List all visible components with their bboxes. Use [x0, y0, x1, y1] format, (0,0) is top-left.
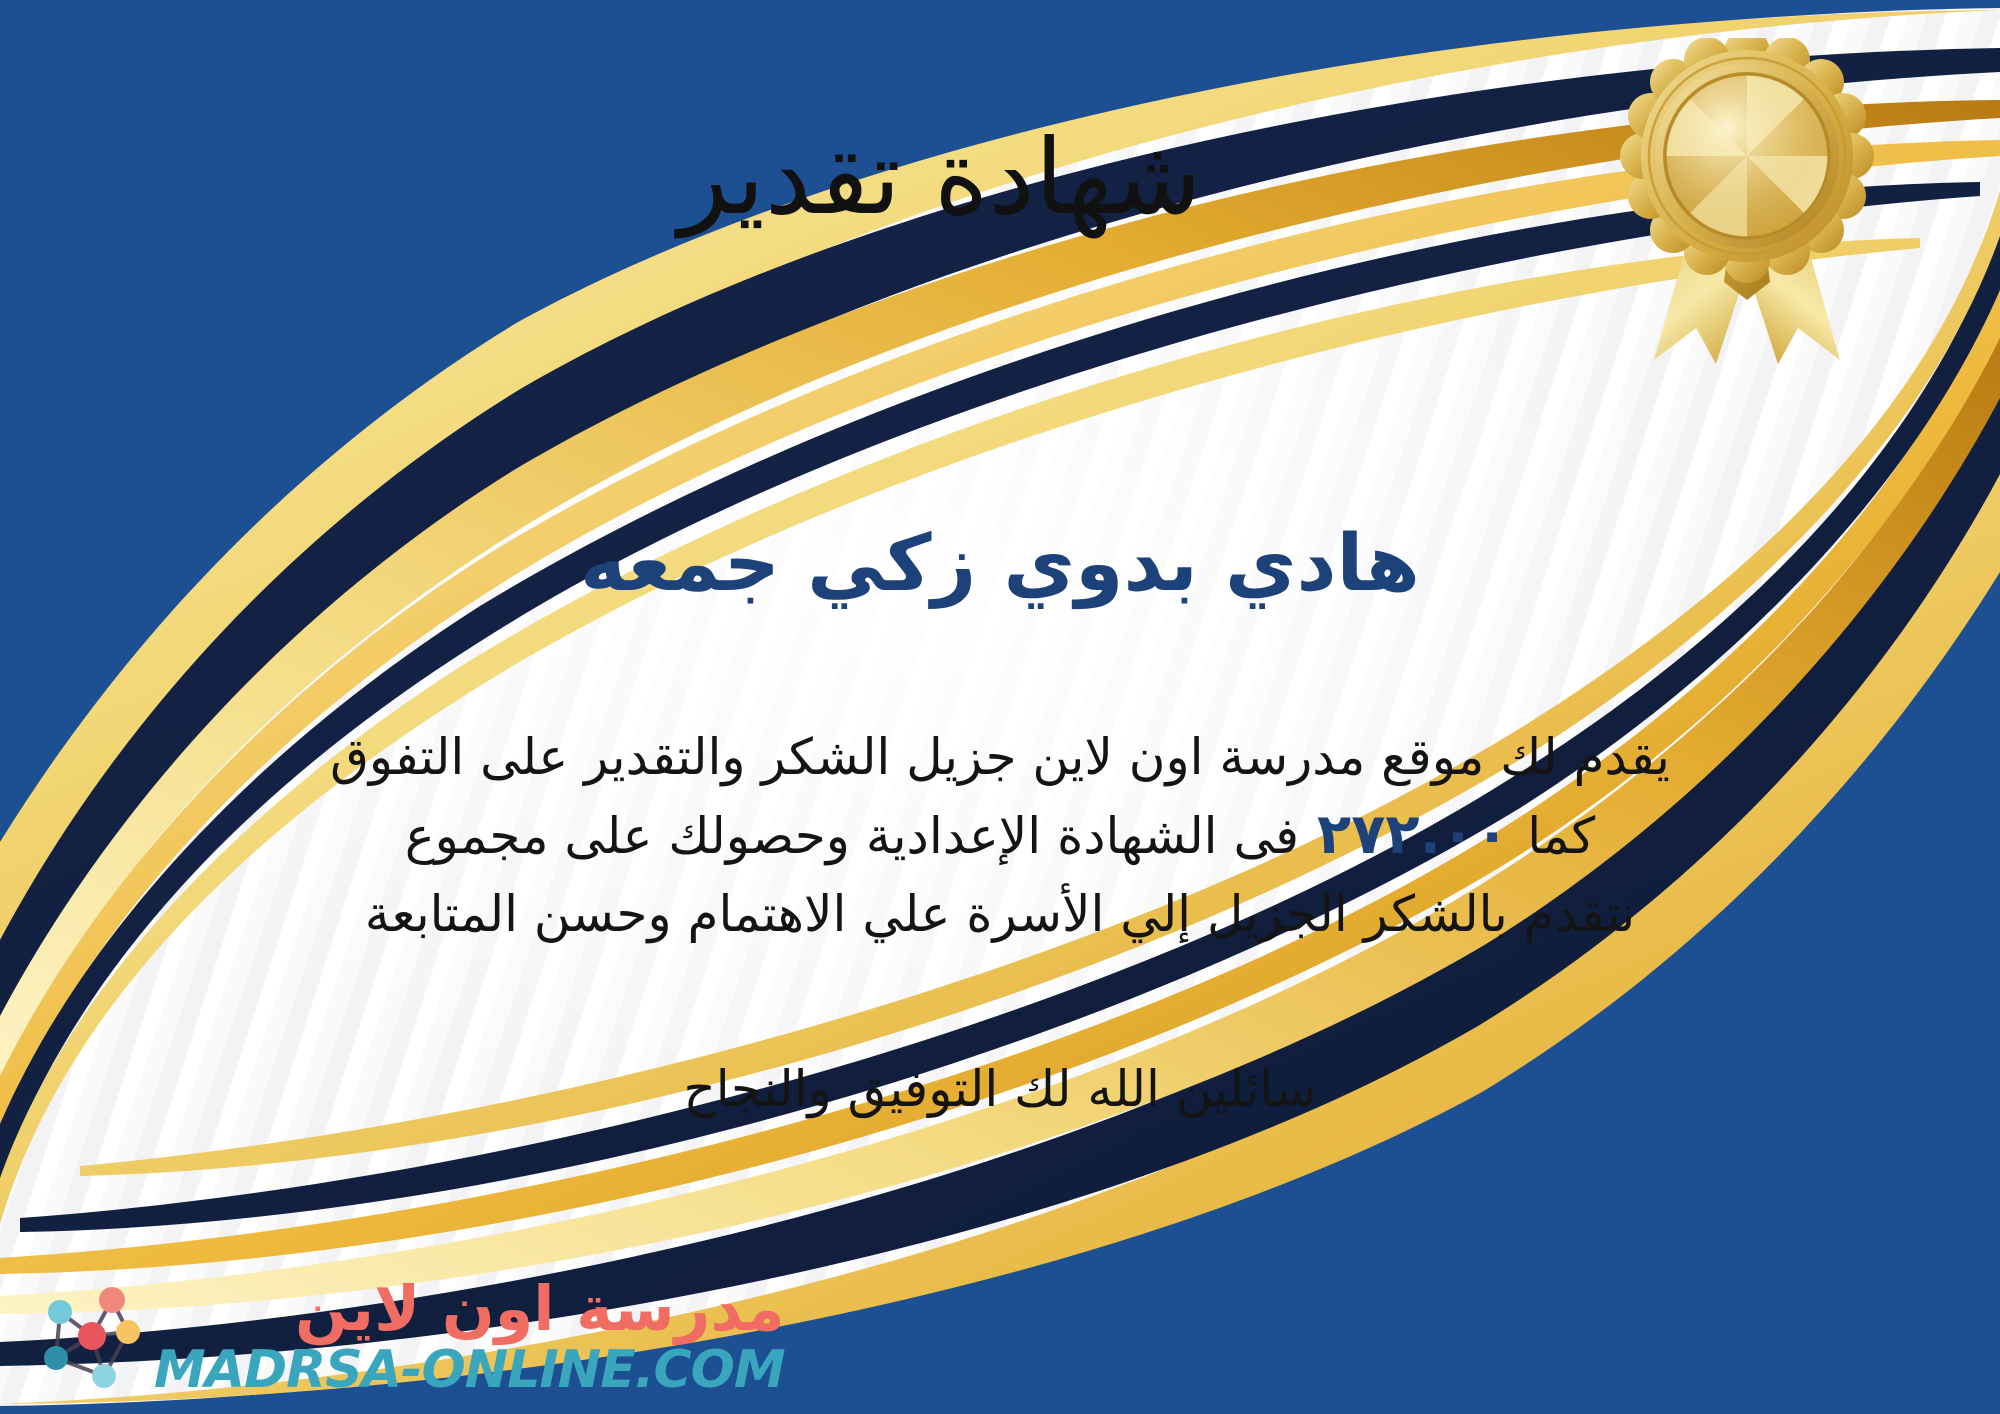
body-line-2-suffix: كما [1527, 799, 1595, 873]
recipient-name: هادي بدوي زكي جمعه [0, 520, 2000, 610]
body-line-2: كما ٢٧٢.٠٠ فى الشهادة الإعدادية وحصولك ع… [70, 794, 1930, 877]
brand-text-block: مدرسة اون لاين MADRSA-ONLINE.COM [154, 1278, 785, 1396]
body-line-3: نتقدم بالشكر الجزيل إلي الأسرة علي الاهت… [70, 877, 1930, 951]
body-line-1: يقدم لك موقع مدرسة اون لاين جزيل الشكر و… [70, 720, 1930, 794]
closing-wish-line: سائلين الله لك التوفيق والنجاح [0, 1060, 2000, 1118]
certificate-document: شهادة تقدير هادي بدوي زكي جمعه يقدم لك م… [0, 0, 2000, 1414]
brand-arabic-name: مدرسة اون لاين [295, 1278, 785, 1340]
body-line-2-prefix: فى الشهادة الإعدادية وحصولك على مجموع [405, 799, 1299, 873]
brand-logo[interactable]: مدرسة اون لاين MADRSA-ONLINE.COM [30, 1278, 785, 1396]
page-title: شهادة تقدير [0, 120, 2000, 234]
certificate-content: شهادة تقدير هادي بدوي زكي جمعه يقدم لك م… [0, 0, 2000, 1414]
total-score-value: ٢٧٢.٠٠ [1299, 794, 1527, 877]
certificate-body: يقدم لك موقع مدرسة اون لاين جزيل الشكر و… [70, 720, 1930, 951]
brand-website: MADRSA-ONLINE.COM [154, 1344, 785, 1396]
network-nodes-icon [30, 1278, 148, 1396]
